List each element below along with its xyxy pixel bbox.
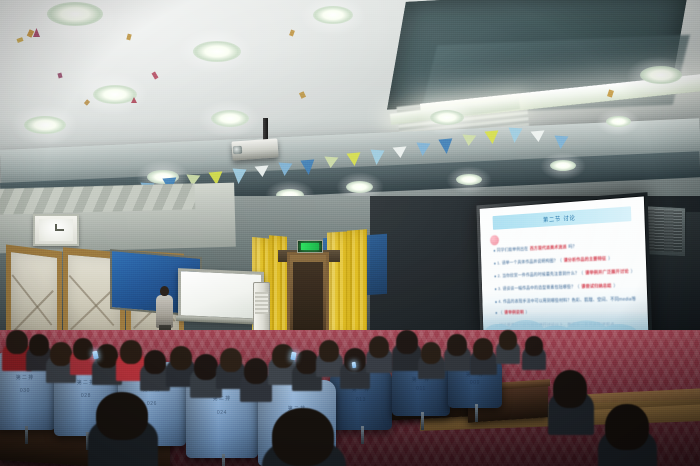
- bunting-flag: [324, 157, 339, 169]
- slide-bullet: 3. 请谈谈一幅作品中的造型要素包括哪些？（请尝试归纳总结）: [495, 283, 618, 292]
- panel-x-brace: [70, 287, 116, 330]
- ceiling-downlight: [211, 110, 249, 127]
- audience-member-head: [473, 338, 493, 360]
- seat-leg: [25, 426, 28, 444]
- slide-bullet-text: 3. 请谈谈一幅作品中的造型要素包括哪些？（: [498, 284, 580, 292]
- exit-sign: [297, 240, 323, 253]
- curtain-sheen: [327, 231, 349, 338]
- seat-leg: [361, 426, 364, 444]
- slide-bullet-marker: [494, 250, 496, 252]
- slide-bullet: 同学们能举例出在西方现代派美术流派吗？: [494, 244, 577, 254]
- projection-screen[interactable]: 第二节 讨论 同学们能举例出在西方现代派美术流派吗？1. 请举一个具体作品并说明…: [476, 192, 652, 344]
- audience-member-head: [396, 330, 418, 354]
- seat-number: 013: [330, 397, 392, 405]
- ceiling-downlight: [640, 66, 682, 84]
- seat-number: 030: [0, 388, 56, 396]
- audience-member-head: [96, 392, 148, 440]
- audience-member-head: [605, 404, 649, 450]
- slide-title: 第二节 讨论: [543, 213, 576, 224]
- ceiling-downlight: [606, 116, 631, 127]
- slide-decorative-dot: [490, 235, 499, 246]
- bunting-flag: [531, 130, 546, 142]
- ceiling-downlight: [93, 85, 137, 104]
- audience-member-head: [272, 408, 334, 466]
- slide-bullet-text: 同学们能举例出在: [497, 246, 529, 253]
- clock-face: [39, 219, 73, 241]
- bunting-flag: [393, 146, 408, 158]
- bunting-flag: [484, 130, 499, 144]
- panel-x-brace: [69, 275, 115, 326]
- panel-x-brace: [12, 274, 52, 325]
- slide-bullet: 4. 作品的表现手法中可以用到哪些材料？色彩、肌理、空间、不同media等: [495, 296, 636, 304]
- doorway-opening: [293, 262, 323, 340]
- bunting-flag: [507, 128, 522, 144]
- audience-member-head: [96, 344, 118, 368]
- ceiling-downlight: [47, 2, 103, 26]
- bunting-flag: [255, 165, 270, 177]
- audience-member-head: [553, 370, 587, 408]
- lecture-hall-photo: 第二节 讨论 同学们能举例出在西方现代派美术流派吗？1. 请举一个具体作品并说明…: [0, 0, 700, 466]
- slide-bullet-tail: 吗？: [568, 244, 577, 250]
- ceiling-downlight: [430, 110, 464, 125]
- seat-leg: [475, 404, 478, 422]
- exit-sign-glow: [301, 243, 319, 250]
- slide-bullet-tail: ）: [631, 269, 636, 275]
- bunting-flag: [554, 136, 569, 150]
- clock-hand-minute: [55, 229, 64, 231]
- bunting-flag: [278, 163, 293, 177]
- ceiling-downlight: [193, 41, 241, 62]
- ceiling-downlight: [550, 160, 576, 171]
- whiteboard: [178, 268, 264, 322]
- slide-bullet-marker: [494, 275, 496, 277]
- projector-lens: [233, 146, 243, 155]
- bunting-flag: [346, 152, 361, 166]
- air-conditioner-louvers: [255, 292, 268, 314]
- bunting-flag: [369, 150, 384, 166]
- slide-bullet-marker: [495, 301, 497, 303]
- ceiling-downlight: [313, 6, 353, 24]
- panel-x-brace: [13, 290, 53, 332]
- audience-member-head: [525, 336, 543, 356]
- ceiling-downlight: [346, 181, 373, 193]
- seat-number: 011: [392, 386, 450, 394]
- audience-member-head: [344, 348, 366, 372]
- audience-member-head: [50, 342, 72, 366]
- slide-bullet-text: 1. 请举一个具体作品并说明构图？（: [497, 258, 562, 266]
- stage-curtain-right: [347, 229, 367, 338]
- slide-bullet: 2. 当你欣赏一件作品的时候最先注意到什么？（请举例并广泛展开讨论）: [494, 269, 635, 280]
- slide-title-bar: 第二节 讨论: [493, 206, 632, 230]
- slide-bullet-tail: ）: [608, 256, 613, 262]
- slide-bullet-marker: [495, 288, 497, 290]
- slide-bullet-highlight: 西方现代派美术流派: [530, 244, 567, 252]
- audience-member-head: [244, 358, 268, 384]
- presentation-slide: 第二节 讨论 同学们能举例出在西方现代派美术流派吗？1. 请举一个具体作品并说明…: [480, 196, 649, 340]
- bunting-flag: [300, 159, 315, 175]
- audience-member-head: [29, 334, 49, 356]
- slide-bullet-highlight: 请举例并广泛展开讨论: [585, 269, 629, 276]
- audience-member-head: [447, 334, 467, 356]
- slide-bullet-marker: [494, 263, 496, 265]
- ceiling-downlight: [24, 116, 66, 134]
- seat-number: 024: [186, 410, 258, 418]
- bunting-flag: [416, 143, 431, 157]
- audience-member-head: [170, 346, 192, 370]
- bunting-flag: [462, 135, 477, 147]
- slide-bullet-tail: ）: [613, 283, 618, 289]
- presenter-head: [160, 286, 169, 296]
- seat-leg: [222, 454, 225, 466]
- audience-member-head: [319, 340, 339, 362]
- slide-bullet-highlight: 请尝试归纳总结: [581, 283, 611, 290]
- wall-clock: [33, 214, 79, 246]
- phone-screen-glow: [352, 362, 357, 368]
- audience-member-head: [73, 338, 93, 360]
- audience-member-head: [296, 350, 318, 374]
- seat-number: 009: [448, 380, 502, 388]
- audience-member-head: [421, 342, 441, 364]
- slide-bullet-highlight: 请分析作品的主要特征: [564, 256, 607, 264]
- bunting-flag: [438, 138, 453, 154]
- presenter-body: [156, 295, 173, 328]
- seat-leg: [421, 412, 424, 430]
- slide-bullet: 1. 请举一个具体作品并说明构图？（请分析作品的主要特征）: [494, 256, 613, 267]
- ceiling-downlight: [456, 174, 482, 185]
- audience-member-head: [120, 340, 142, 364]
- slide-bullet-text: 4. 作品的表现手法中可以用到哪些材料？色彩、肌理、空间、不同media等: [498, 296, 636, 304]
- audience-member-head: [369, 336, 389, 358]
- audience-member-head: [499, 330, 517, 350]
- audience-member-head: [194, 354, 218, 380]
- audience-member-head: [144, 350, 166, 374]
- audience-member-head: [220, 348, 242, 372]
- slide-bullet-text: 2. 当你欣赏一件作品的时候最先注意到什么？（: [498, 270, 584, 279]
- audience-member-head: [6, 330, 28, 354]
